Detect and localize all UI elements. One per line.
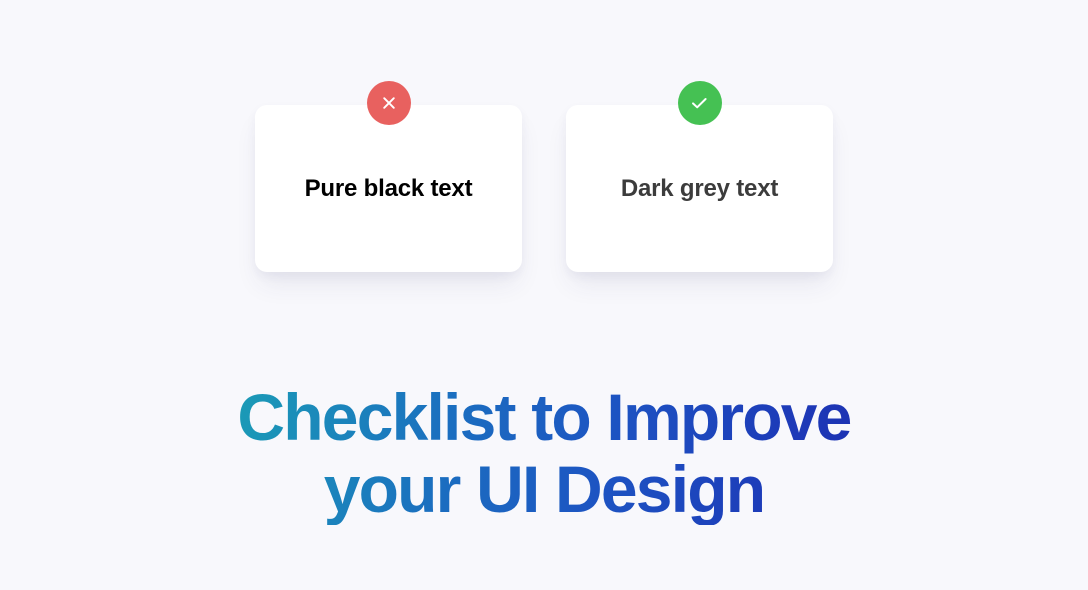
card-label: Dark grey text	[621, 177, 778, 201]
page-title: Checklist to Improve your UI Design	[0, 381, 1088, 525]
check-icon	[691, 96, 708, 110]
card-label: Pure black text	[305, 177, 473, 201]
cross-icon-badge	[367, 81, 411, 125]
comparison-cards-row: Pure black text Dark grey text	[0, 72, 1088, 287]
slide-canvas: Pure black text Dark grey text Checklist…	[0, 0, 1088, 590]
check-icon-badge	[678, 81, 722, 125]
page-title-line-2: your UI Design	[0, 453, 1088, 525]
card-surface: Pure black text	[255, 105, 522, 272]
page-title-line-1: Checklist to Improve	[0, 381, 1088, 453]
card-surface: Dark grey text	[566, 105, 833, 272]
cross-icon	[382, 96, 396, 110]
card-dark-grey-text[interactable]: Dark grey text	[566, 72, 833, 287]
card-pure-black-text[interactable]: Pure black text	[255, 72, 522, 287]
